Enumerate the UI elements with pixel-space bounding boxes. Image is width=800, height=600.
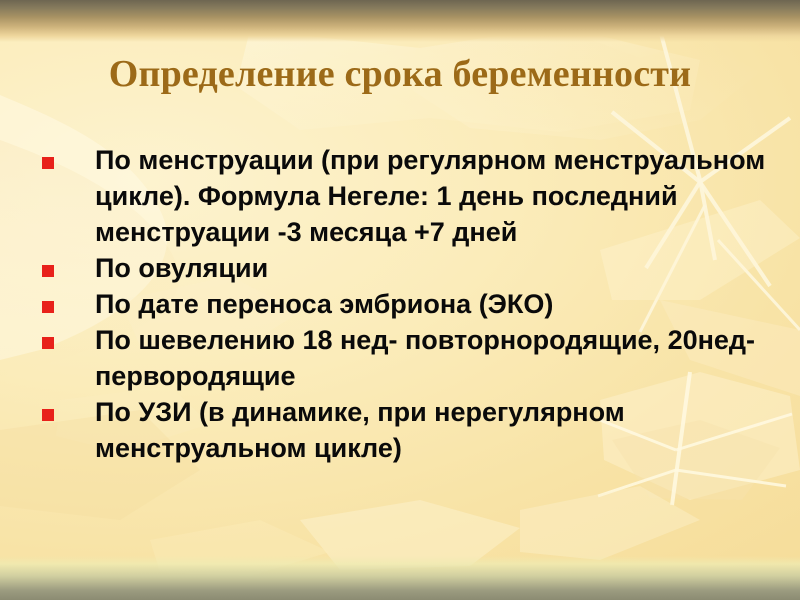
list-item: По шевелению 18 нед- повторнородящие, 20… [0,322,800,394]
bullet-list: По менструации (при регулярном менструал… [0,142,800,466]
list-item-label: По УЗИ (в динамике, при нерегулярном мен… [95,394,782,466]
list-item-label: По шевелению 18 нед- повторнородящие, 20… [95,322,782,394]
top-gradient-band [0,0,800,42]
list-item-label: По дате переноса эмбриона (ЭКО) [95,286,782,322]
red-square-bullet-icon [42,409,54,421]
list-item: По УЗИ (в динамике, при нерегулярном мен… [0,394,800,466]
slide-canvas: Определение срока беременности По менстр… [0,0,800,600]
red-square-bullet-icon [42,337,54,349]
list-item: По менструации (при регулярном менструал… [0,142,800,250]
red-square-bullet-icon [42,265,54,277]
list-item-label: По менструации (при регулярном менструал… [95,142,782,250]
red-square-bullet-icon [42,157,54,169]
page-title: Определение срока беременности [40,52,760,96]
bottom-gradient-band [0,556,800,600]
red-square-bullet-icon [42,301,54,313]
list-item: По овуляции [0,250,800,286]
list-item-label: По овуляции [95,250,782,286]
list-item: По дате переноса эмбриона (ЭКО) [0,286,800,322]
